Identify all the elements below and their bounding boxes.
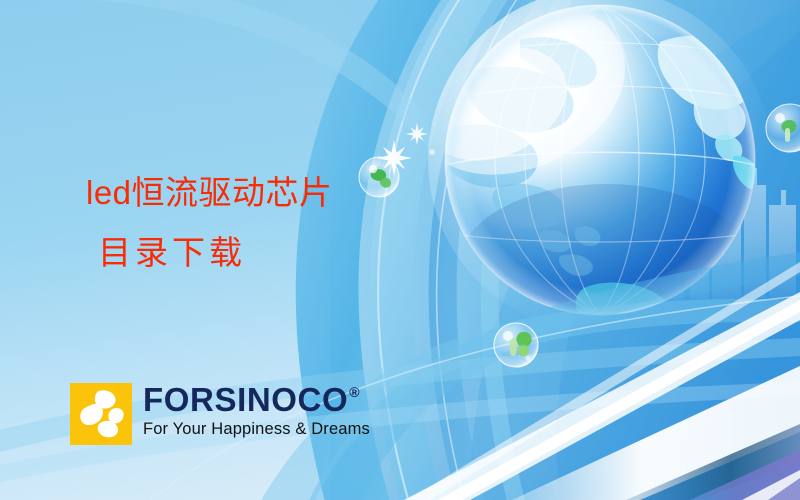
brand-logo: FORSINOCO ® For Your Happiness & Dreams <box>70 383 370 445</box>
forsinoco-pinwheel-icon <box>70 383 132 445</box>
brand-name-row: FORSINOCO ® <box>143 383 370 417</box>
bubble-leaf-icon <box>494 323 538 367</box>
slide-canvas: led恒流驱动芯片 目录下载 FORSINOCO ® For Your Happ… <box>0 0 800 500</box>
registered-trademark-icon: ® <box>349 384 359 400</box>
headline-line-1: led恒流驱动芯片 <box>86 163 333 223</box>
brand-text-block: FORSINOCO ® For Your Happiness & Dreams <box>143 383 370 438</box>
bubble-globe-icon <box>359 157 399 197</box>
brand-name: FORSINOCO <box>143 383 348 417</box>
brand-tagline: For Your Happiness & Dreams <box>143 420 370 438</box>
headline-line-2: 目录下载 <box>98 224 246 284</box>
